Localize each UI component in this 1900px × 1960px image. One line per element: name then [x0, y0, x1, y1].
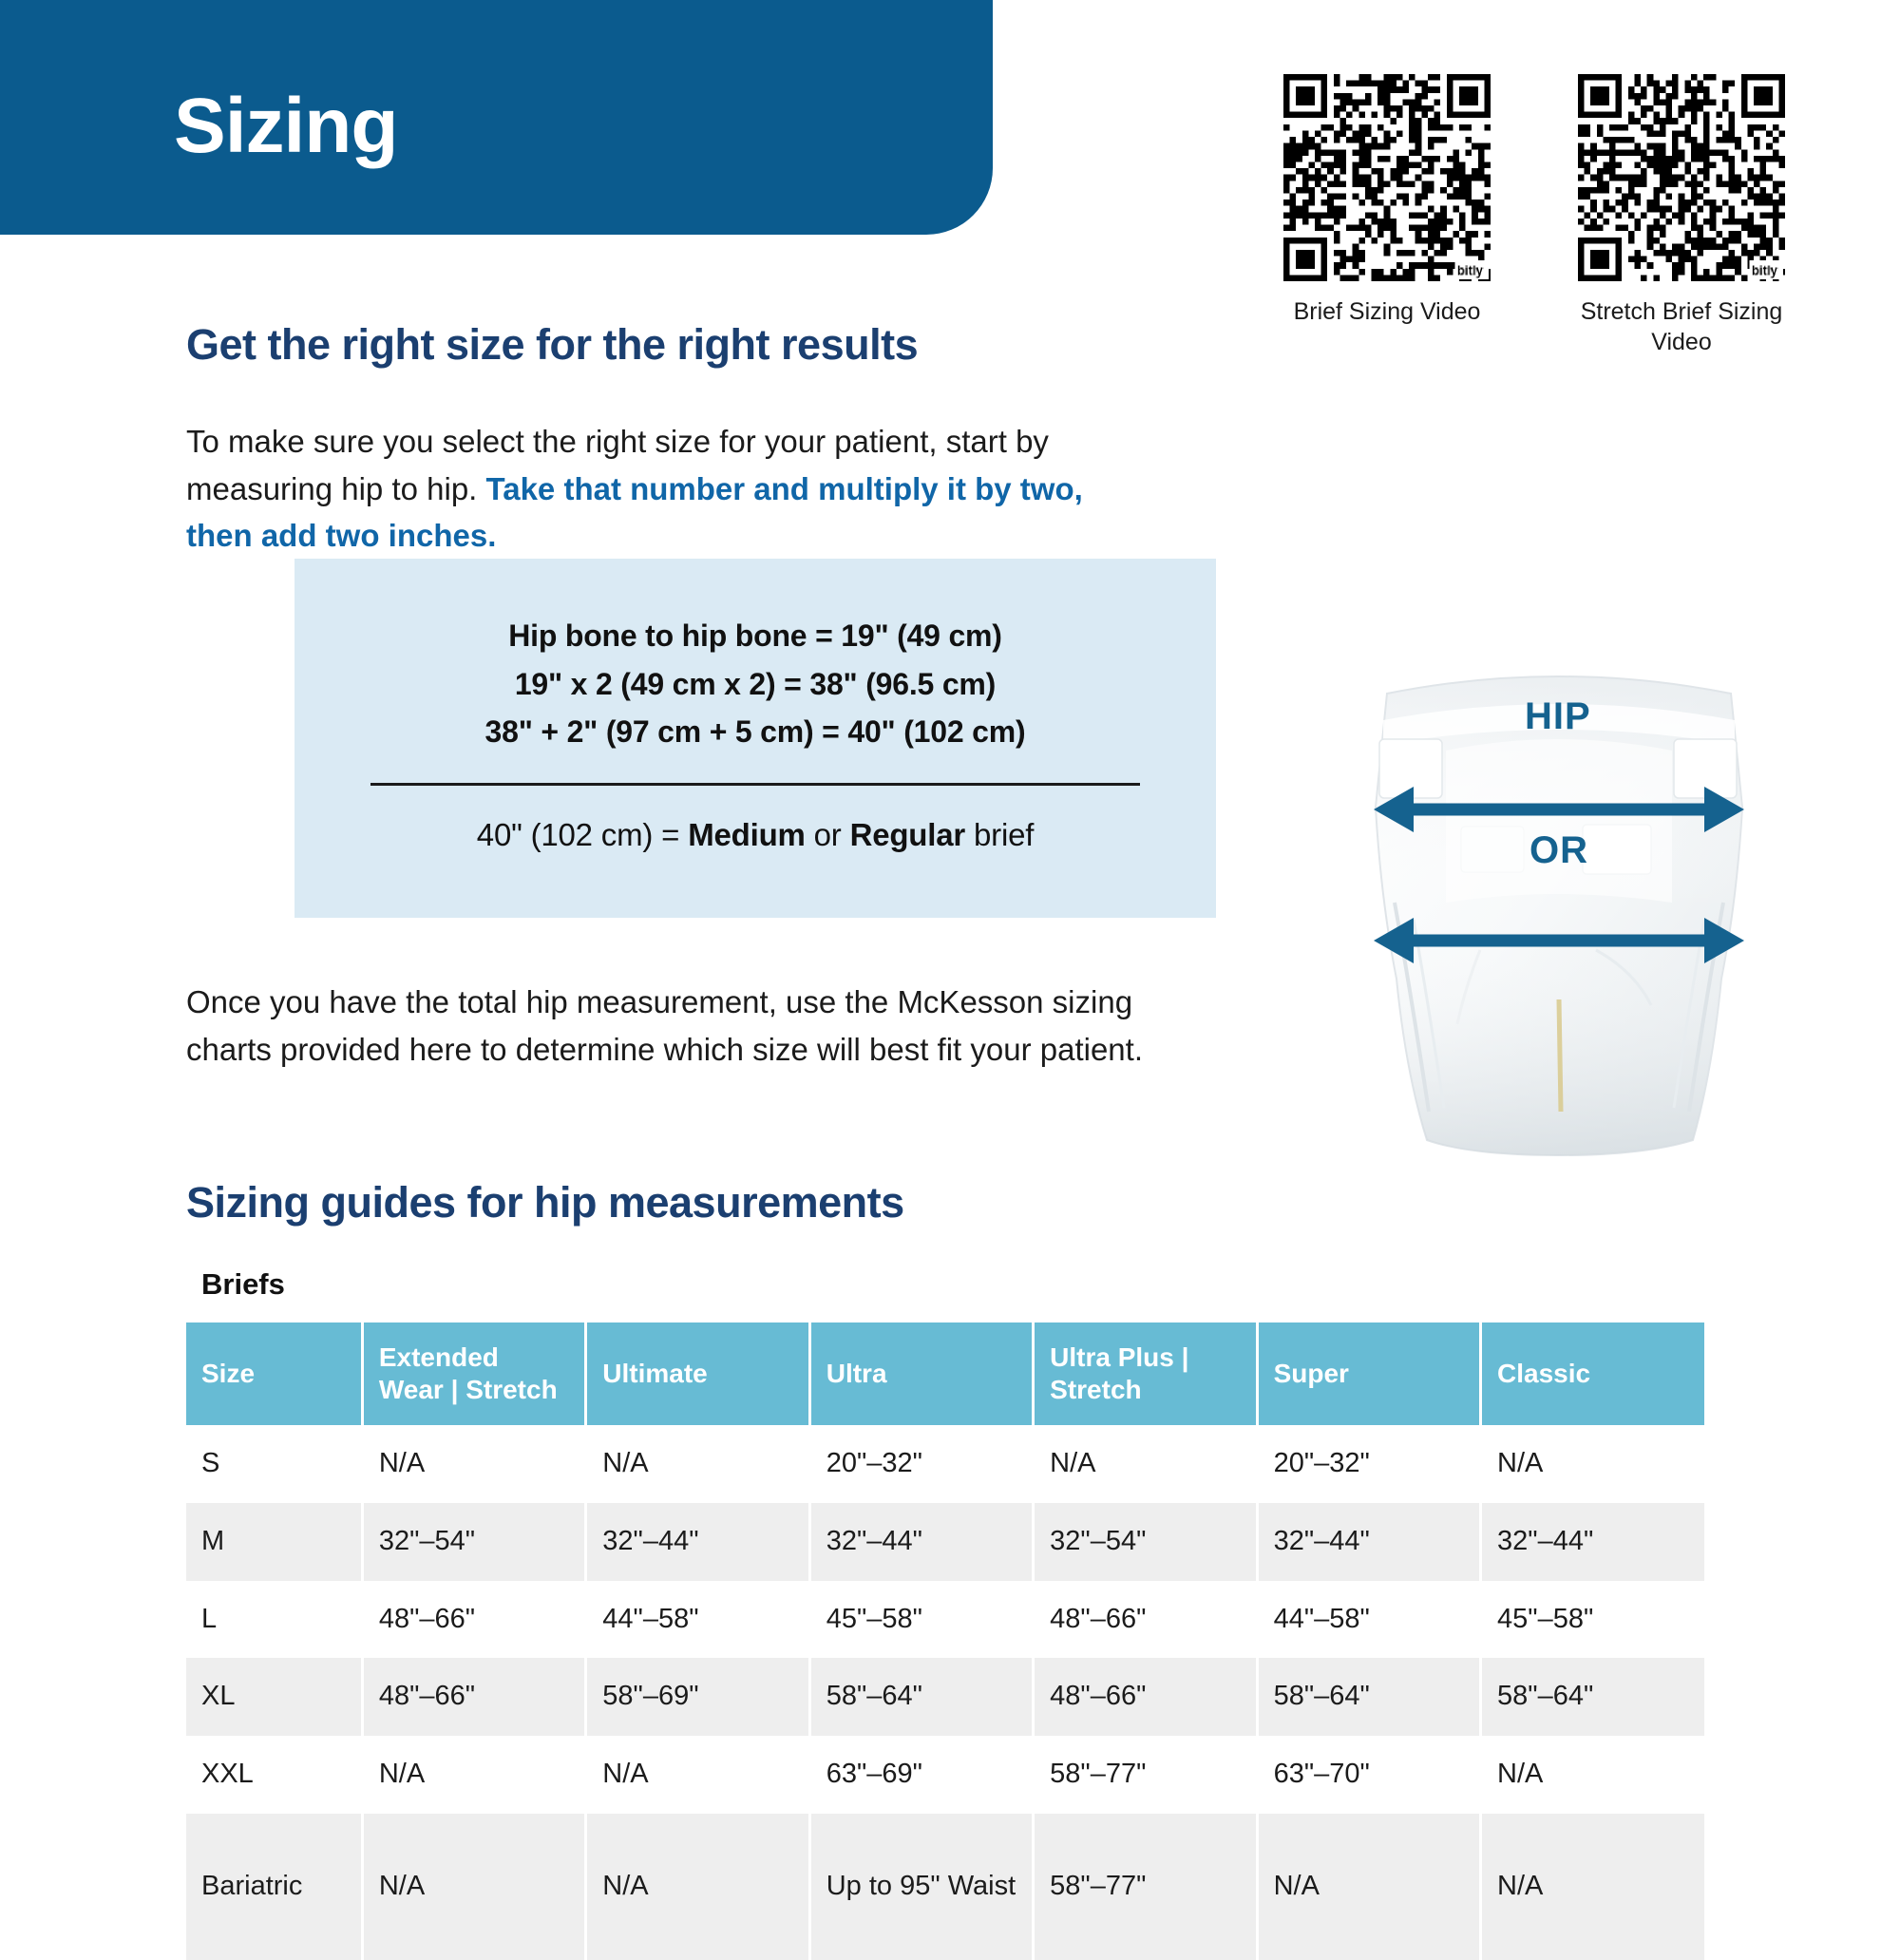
post-paragraph: Once you have the total hip measurement,… — [186, 979, 1155, 1073]
page-title: Sizing — [174, 87, 397, 165]
cell-measurement: N/A — [1257, 1814, 1480, 1960]
calc-line-3: 38" + 2" (97 cm + 5 cm) = 40" (102 cm) — [294, 708, 1216, 756]
column-header-ultra: Ultra — [809, 1323, 1033, 1425]
guides-heading: Sizing guides for hip measurements — [186, 1178, 904, 1227]
table-title-briefs: Briefs — [201, 1267, 285, 1302]
table-row: L48"–66"44"–58"45"–58"48"–66"44"–58"45"–… — [186, 1581, 1704, 1659]
result-prefix: 40" (102 cm) = — [477, 817, 688, 852]
header-banner — [0, 0, 993, 235]
hip-measure-label: HIP — [1525, 695, 1591, 738]
intro-paragraph: To make sure you select the right size f… — [186, 418, 1136, 560]
cell-size: XXL — [186, 1736, 362, 1814]
cell-measurement: 32"–54" — [1034, 1503, 1257, 1581]
column-header-ultra-plus-stretch: Ultra Plus | Stretch — [1034, 1323, 1257, 1425]
briefs-sizing-table: Size Extended Wear | Stretch Ultimate Ul… — [186, 1323, 1704, 1960]
cell-measurement: 58"–77" — [1034, 1814, 1257, 1960]
cell-measurement: 32"–54" — [362, 1503, 585, 1581]
column-header-super: Super — [1257, 1323, 1480, 1425]
calculation-result: 40" (102 cm) = Medium or Regular brief — [294, 817, 1216, 853]
column-header-classic: Classic — [1481, 1323, 1704, 1425]
result-conjunction: or — [806, 817, 850, 852]
cell-measurement: N/A — [586, 1814, 809, 1960]
cell-measurement: N/A — [362, 1736, 585, 1814]
cell-measurement: 58"–77" — [1034, 1736, 1257, 1814]
column-header-size: Size — [186, 1323, 362, 1425]
qr-code-icon[interactable] — [1283, 74, 1491, 281]
calculation-lines: Hip bone to hip bone = 19" (49 cm) 19" x… — [294, 612, 1216, 756]
cell-measurement: 32"–44" — [1257, 1503, 1480, 1581]
cell-measurement: N/A — [1481, 1736, 1704, 1814]
cell-measurement: N/A — [1481, 1814, 1704, 1960]
cell-measurement: 44"–58" — [586, 1581, 809, 1659]
cell-measurement: 32"–44" — [586, 1503, 809, 1581]
or-measure-label: OR — [1529, 829, 1588, 872]
column-header-ultimate: Ultimate — [586, 1323, 809, 1425]
cell-measurement: 44"–58" — [1257, 1581, 1480, 1659]
cell-measurement: 32"–44" — [809, 1503, 1033, 1581]
cell-measurement: 58"–64" — [1257, 1658, 1480, 1736]
cell-size: L — [186, 1581, 362, 1659]
cell-measurement: 58"–69" — [586, 1658, 809, 1736]
cell-measurement: 48"–66" — [1034, 1658, 1257, 1736]
cell-measurement: 58"–64" — [1481, 1658, 1704, 1736]
result-size-regular: Regular — [850, 817, 965, 852]
qr-block-stretch-brief-sizing-video[interactable]: Stretch Brief Sizing Video — [1548, 74, 1814, 357]
section-heading: Get the right size for the right results — [186, 320, 918, 370]
table-header-row: Size Extended Wear | Stretch Ultimate Ul… — [186, 1323, 1704, 1425]
table-row: XXLN/AN/A63"–69"58"–77"63"–70"N/A — [186, 1736, 1704, 1814]
calc-divider — [370, 783, 1140, 786]
product-brief-illustration: HIP OR — [1358, 665, 1757, 1159]
column-header-extended-wear-stretch: Extended Wear | Stretch — [362, 1323, 585, 1425]
cell-measurement: 63"–69" — [809, 1736, 1033, 1814]
cell-measurement: 45"–58" — [1481, 1581, 1704, 1659]
cell-measurement: N/A — [1034, 1425, 1257, 1503]
cell-measurement: N/A — [362, 1814, 585, 1960]
cell-size: M — [186, 1503, 362, 1581]
cell-measurement: 20"–32" — [1257, 1425, 1480, 1503]
cell-measurement: N/A — [586, 1425, 809, 1503]
cell-measurement: N/A — [586, 1736, 809, 1814]
cell-measurement: 32"–44" — [1481, 1503, 1704, 1581]
cell-measurement: 48"–66" — [1034, 1581, 1257, 1659]
cell-size: XL — [186, 1658, 362, 1736]
brief-product-image — [1358, 665, 1757, 1159]
calc-line-2: 19" x 2 (49 cm x 2) = 38" (96.5 cm) — [294, 660, 1216, 709]
cell-measurement: 48"–66" — [362, 1581, 585, 1659]
cell-measurement: Up to 95" Waist — [809, 1814, 1033, 1960]
cell-size: Bariatric — [186, 1814, 362, 1960]
cell-measurement: 63"–70" — [1257, 1736, 1480, 1814]
table-row: BariatricN/AN/AUp to 95" Waist58"–77"N/A… — [186, 1814, 1704, 1960]
table-row: M32"–54"32"–44"32"–44"32"–54"32"–44"32"–… — [186, 1503, 1704, 1581]
qr-caption-stretch: Stretch Brief Sizing Video — [1548, 296, 1814, 357]
cell-measurement: 48"–66" — [362, 1658, 585, 1736]
calc-line-1: Hip bone to hip bone = 19" (49 cm) — [294, 612, 1216, 660]
result-suffix: brief — [965, 817, 1034, 852]
qr-block-brief-sizing-video[interactable]: Brief Sizing Video — [1254, 74, 1520, 327]
cell-measurement: 58"–64" — [809, 1658, 1033, 1736]
result-size-medium: Medium — [688, 817, 805, 852]
cell-measurement: N/A — [362, 1425, 585, 1503]
table-row: SN/AN/A20"–32"N/A20"–32"N/A — [186, 1425, 1704, 1503]
qr-caption-brief: Brief Sizing Video — [1254, 296, 1520, 327]
cell-measurement: 20"–32" — [809, 1425, 1033, 1503]
calculation-example-box: Hip bone to hip bone = 19" (49 cm) 19" x… — [294, 559, 1216, 918]
qr-code-icon[interactable] — [1578, 74, 1785, 281]
cell-measurement: 45"–58" — [809, 1581, 1033, 1659]
cell-size: S — [186, 1425, 362, 1503]
cell-measurement: N/A — [1481, 1425, 1704, 1503]
table-row: XL48"–66"58"–69"58"–64"48"–66"58"–64"58"… — [186, 1658, 1704, 1736]
